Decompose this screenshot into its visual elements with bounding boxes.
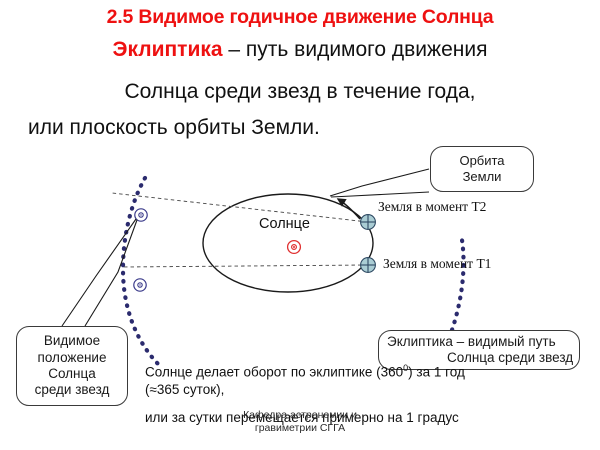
body-line-1: Солнце делает оборот по эклиптике (3600)…: [145, 363, 465, 380]
earth-symbol-t1: [361, 258, 376, 273]
leader-line-orbit-a: [330, 169, 429, 196]
apparent-sun-position-t2-marker: [135, 209, 147, 221]
callout-apparent-line2: положение: [35, 350, 110, 366]
apparent-sun-position-t1-marker: [134, 279, 146, 291]
earth-t2-label: Земля в момент Т2: [378, 199, 486, 215]
callout-apparent-line3: Солнца: [35, 366, 110, 382]
sightline-t2: [112, 193, 368, 222]
watermark: Кафедра астрономии и гравиметрии СГГА: [175, 409, 425, 435]
leader-line-orbit-b: [331, 192, 429, 197]
watermark-line-1: Кафедра астрономии и: [175, 409, 425, 422]
body-line-1-pre: Солнце делает оборот по эклиптике (360: [145, 365, 403, 380]
earth-t1-label: Земля в момент Т1: [383, 256, 491, 272]
leader-line-apparent-a: [85, 220, 137, 326]
ecliptic-arc-left: [123, 178, 160, 366]
watermark-line-2: гравиметрии СГГА: [175, 422, 425, 435]
slide-canvas: 2.5 Видимое годичное движение Солнца Экл…: [0, 0, 600, 450]
callout-apparent-sun-position: Видимое положение Солнца среди звезд: [16, 326, 128, 406]
callout-ecliptic-line1: Эклиптика – видимый путь: [387, 334, 573, 350]
callout-earth-orbit-line2: Земли: [459, 169, 504, 185]
callout-apparent-line1: Видимое: [35, 333, 110, 349]
sun-label: Солнце: [259, 216, 310, 232]
ecliptic-arc-right: [452, 240, 464, 330]
callout-earth-orbit-line1: Орбита: [459, 153, 504, 169]
callout-earth-orbit: Орбита Земли: [430, 146, 534, 192]
earth-symbol-t2: [361, 215, 376, 230]
sun-symbol: [288, 241, 301, 254]
body-line-1-post: ) за 1 год: [408, 365, 465, 380]
body-line-2: (≈365 суток),: [145, 382, 224, 397]
sightline-t1: [122, 265, 368, 267]
callout-apparent-line4: среди звезд: [35, 382, 110, 398]
earth-orbit-ellipse: [203, 194, 373, 292]
